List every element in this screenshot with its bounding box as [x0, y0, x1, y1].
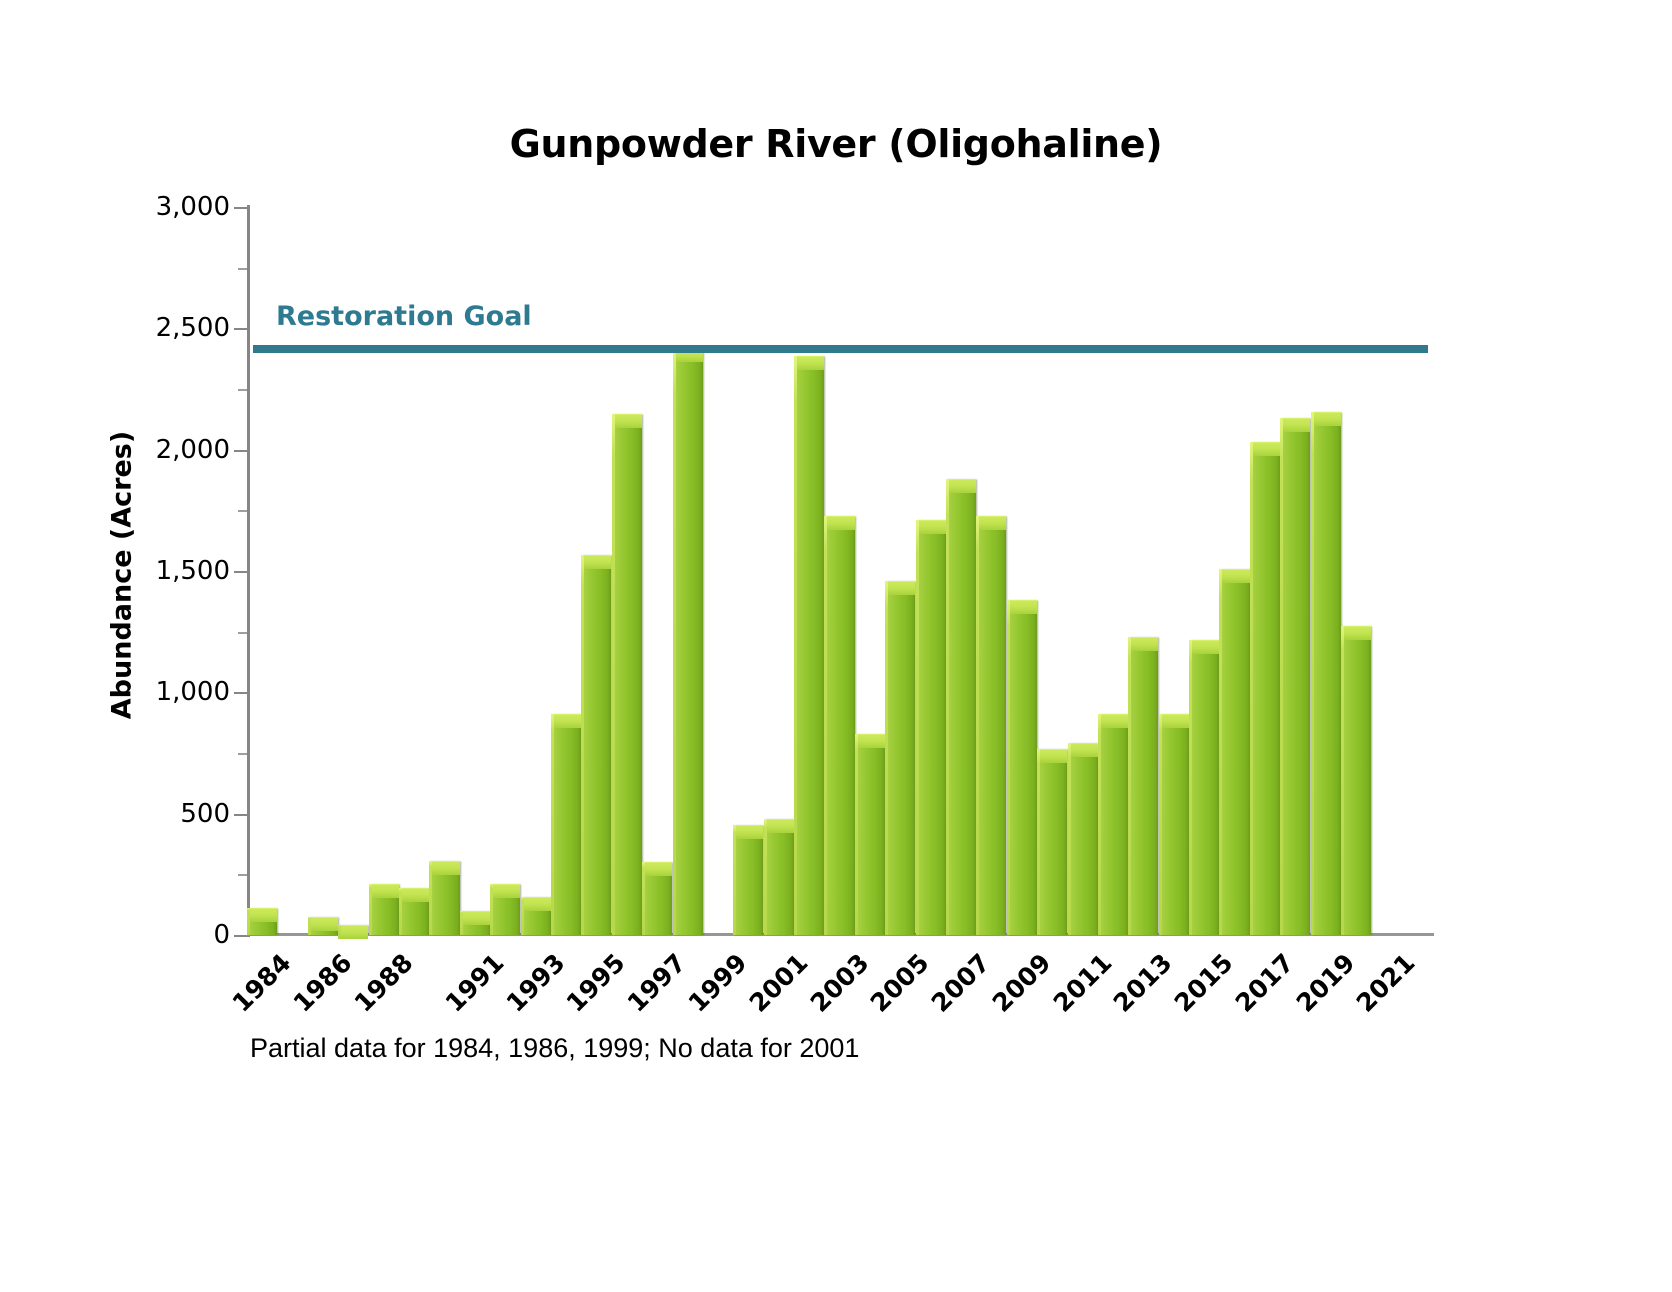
x-axis-tick-label: 2019 [1290, 948, 1360, 1018]
bar [1037, 749, 1067, 935]
restoration-goal-label: Restoration Goal [276, 301, 532, 332]
x-axis-tick-label: 2017 [1230, 948, 1300, 1018]
bar [521, 897, 551, 935]
bar [1311, 412, 1341, 935]
y-axis-minor-tick [238, 632, 247, 634]
x-axis-tick-label: 2011 [1047, 948, 1117, 1018]
y-axis-tick-label: 2,000 [150, 435, 230, 465]
y-axis-major-tick [234, 814, 247, 816]
y-axis-minor-tick [238, 268, 247, 270]
y-axis-tick-label: 1,000 [150, 677, 230, 707]
x-axis-tick-label: 1997 [622, 948, 692, 1018]
y-axis-minor-tick [238, 389, 247, 391]
bar [551, 714, 581, 935]
bar [1280, 418, 1310, 935]
x-axis-tick-label: 2003 [804, 948, 874, 1018]
y-axis-major-tick [234, 207, 247, 209]
bar [1159, 714, 1189, 935]
y-axis-major-tick [234, 328, 247, 330]
bar [1098, 714, 1128, 935]
y-axis-tick-label: 0 [150, 920, 230, 950]
bar [1219, 569, 1249, 935]
y-axis-major-tick [234, 450, 247, 452]
y-axis-tick-label: 1,500 [150, 556, 230, 586]
x-axis-tick-label: 1993 [500, 948, 570, 1018]
x-axis-tick-label: 1995 [561, 948, 631, 1018]
bar [916, 520, 946, 935]
bar [460, 911, 490, 935]
y-axis-minor-tick [238, 753, 247, 755]
y-axis-major-tick [234, 692, 247, 694]
bar [976, 516, 1006, 935]
bar [338, 925, 368, 935]
bar [946, 479, 976, 935]
y-axis-tick-label: 2,500 [150, 313, 230, 343]
bar [1068, 743, 1098, 935]
x-axis-tick-label: 1999 [683, 948, 753, 1018]
bar [1341, 626, 1371, 935]
bar [247, 908, 277, 935]
bar [1250, 442, 1280, 935]
y-axis-minor-tick [238, 874, 247, 876]
y-axis-title: Abundance (Acres) [107, 431, 138, 719]
x-axis-tick-label: 2005 [865, 948, 935, 1018]
x-axis-tick-label: 2015 [1169, 948, 1239, 1018]
bar [1007, 600, 1037, 935]
x-axis-tick-label: 1986 [288, 948, 358, 1018]
x-axis-tick-label: 2007 [926, 948, 996, 1018]
x-axis-tick-label: 1991 [440, 948, 510, 1018]
y-axis-major-tick [234, 935, 247, 937]
bar [429, 861, 459, 935]
bar [490, 884, 520, 935]
bar [642, 862, 672, 935]
bar [1128, 637, 1158, 935]
x-axis-tick-label: 2001 [744, 948, 814, 1018]
y-axis-major-tick [234, 571, 247, 573]
x-axis-tick-label: 1988 [349, 948, 419, 1018]
bar [764, 819, 794, 935]
bar [794, 356, 824, 935]
bar [1189, 640, 1219, 935]
bar [855, 734, 885, 935]
bar [824, 516, 854, 935]
bar [673, 348, 703, 935]
bar [308, 917, 338, 935]
bar [399, 888, 429, 935]
chart-footnote: Partial data for 1984, 1986, 1999; No da… [250, 1033, 859, 1064]
x-axis-tick-label: 2021 [1351, 948, 1421, 1018]
x-axis-tick-label: 2013 [1108, 948, 1178, 1018]
y-axis-minor-tick [238, 510, 247, 512]
bar [733, 825, 763, 935]
x-axis-tick-label: 2009 [987, 948, 1057, 1018]
bar [581, 555, 611, 935]
y-axis-tick-label: 500 [150, 799, 230, 829]
bar [612, 414, 642, 935]
restoration-goal-line [253, 345, 1428, 353]
bar [369, 884, 399, 935]
bar [885, 581, 915, 935]
y-axis-tick-label: 3,000 [150, 192, 230, 222]
chart-title: Gunpowder River (Oligohaline) [0, 122, 1672, 166]
x-axis-tick-label: 1984 [227, 948, 297, 1018]
